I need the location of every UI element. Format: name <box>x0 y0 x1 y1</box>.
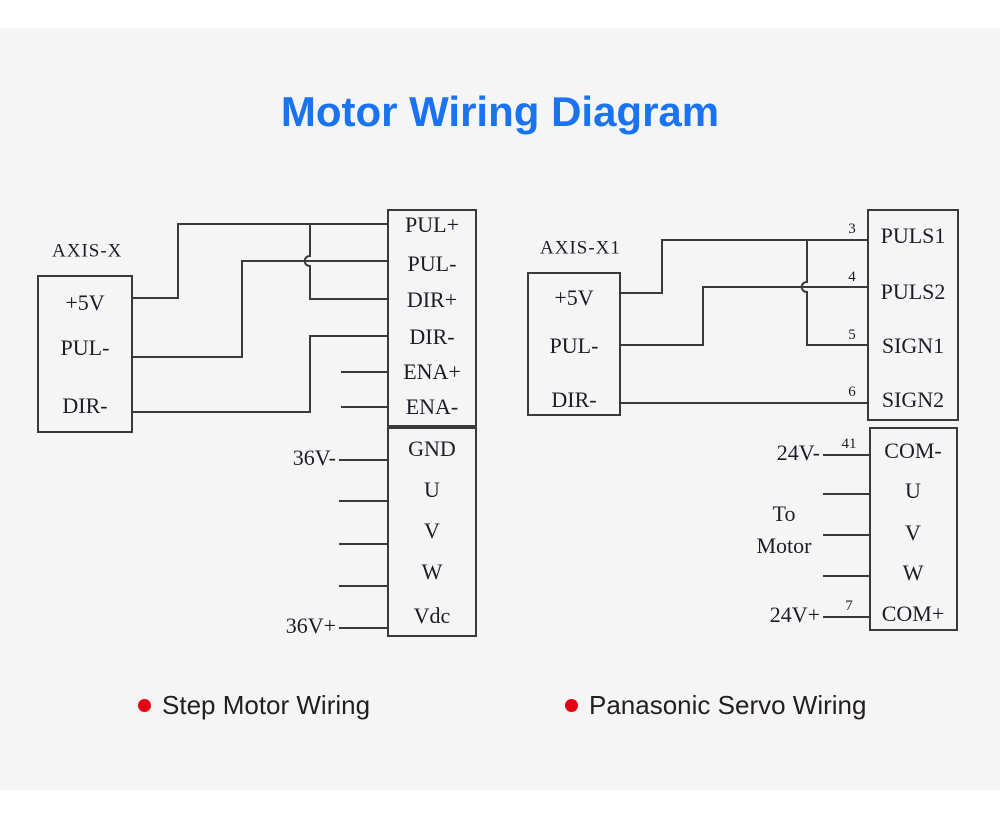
label-to-motor-line2: Motor <box>757 533 813 558</box>
driver-pin-dir-plus: DIR+ <box>407 287 457 312</box>
driver-pin-v: V <box>424 518 440 543</box>
servo-pin-number-3: 3 <box>848 221 856 237</box>
wire-dirminus-to-dirminus <box>132 336 388 412</box>
bullet-icon <box>565 699 578 712</box>
axis-x-controller-label: AXIS-X <box>52 240 122 261</box>
driver-pin-w: W <box>422 559 443 584</box>
servo-pin-number-5: 5 <box>848 327 856 343</box>
servo-pin-v: V <box>905 520 921 545</box>
driver-pin-pul-plus: PUL+ <box>405 212 459 237</box>
bullet-icon <box>138 699 151 712</box>
caption-left-label: Step Motor Wiring <box>162 690 370 721</box>
servo-pin-number-6: 6 <box>848 384 856 400</box>
caption-step-motor-wiring: Step Motor Wiring <box>138 690 370 721</box>
caption-right-label: Panasonic Servo Wiring <box>589 690 866 721</box>
servo-pin-w: W <box>903 560 924 585</box>
axis-x1-pin-dir-minus: DIR- <box>551 387 596 412</box>
servo-power-pin-number-41: 41 <box>842 436 857 452</box>
axis-x1-pin-pul-minus: PUL- <box>550 333 599 358</box>
driver-pin-vdc: Vdc <box>414 603 451 628</box>
servo-pin-number-4: 4 <box>848 269 856 285</box>
wire-x1-5v-to-puls1 <box>620 240 807 293</box>
driver-pin-ena-plus: ENA+ <box>403 359 461 384</box>
label-24v-plus: 24V+ <box>770 602 820 627</box>
servo-pin-com-plus: COM+ <box>882 601 945 626</box>
servo-pin-puls2: PULS2 <box>881 279 946 304</box>
servo-pin-sign1: SIGN1 <box>882 333 944 358</box>
driver-pin-dir-minus: DIR- <box>409 324 454 349</box>
label-36v-plus: 36V+ <box>286 613 336 638</box>
driver-pin-ena-minus: ENA- <box>406 394 459 419</box>
axis-x1-pin-5v: +5V <box>554 285 593 310</box>
label-to-motor-line1: To <box>773 501 796 526</box>
axis-x-pin-5v: +5V <box>65 290 104 315</box>
axis-x1-controller-label: AXIS-X1 <box>540 237 621 258</box>
motor-wiring-diagram-page: Motor Wiring Diagram AXIS-X +5V PUL- DIR… <box>0 0 1000 819</box>
driver-pin-pul-minus: PUL- <box>408 251 457 276</box>
servo-power-pin-number-7: 7 <box>845 598 853 614</box>
label-24v-minus: 24V- <box>777 440 820 465</box>
servo-pin-com-minus: COM- <box>884 438 941 463</box>
axis-x-pin-pul-minus: PUL- <box>61 335 110 360</box>
caption-panasonic-servo-wiring: Panasonic Servo Wiring <box>565 690 866 721</box>
axis-x-pin-dir-minus: DIR- <box>62 393 107 418</box>
servo-pin-puls1: PULS1 <box>881 223 946 248</box>
label-36v-minus: 36V- <box>293 445 336 470</box>
wire-pulminus-to-pulminus <box>132 261 388 357</box>
driver-pin-u: U <box>424 477 440 502</box>
servo-pin-sign2: SIGN2 <box>882 387 944 412</box>
servo-pin-u: U <box>905 478 921 503</box>
wire-x1-pulminus-to-puls2 <box>620 287 868 345</box>
driver-pin-gnd: GND <box>408 436 456 461</box>
